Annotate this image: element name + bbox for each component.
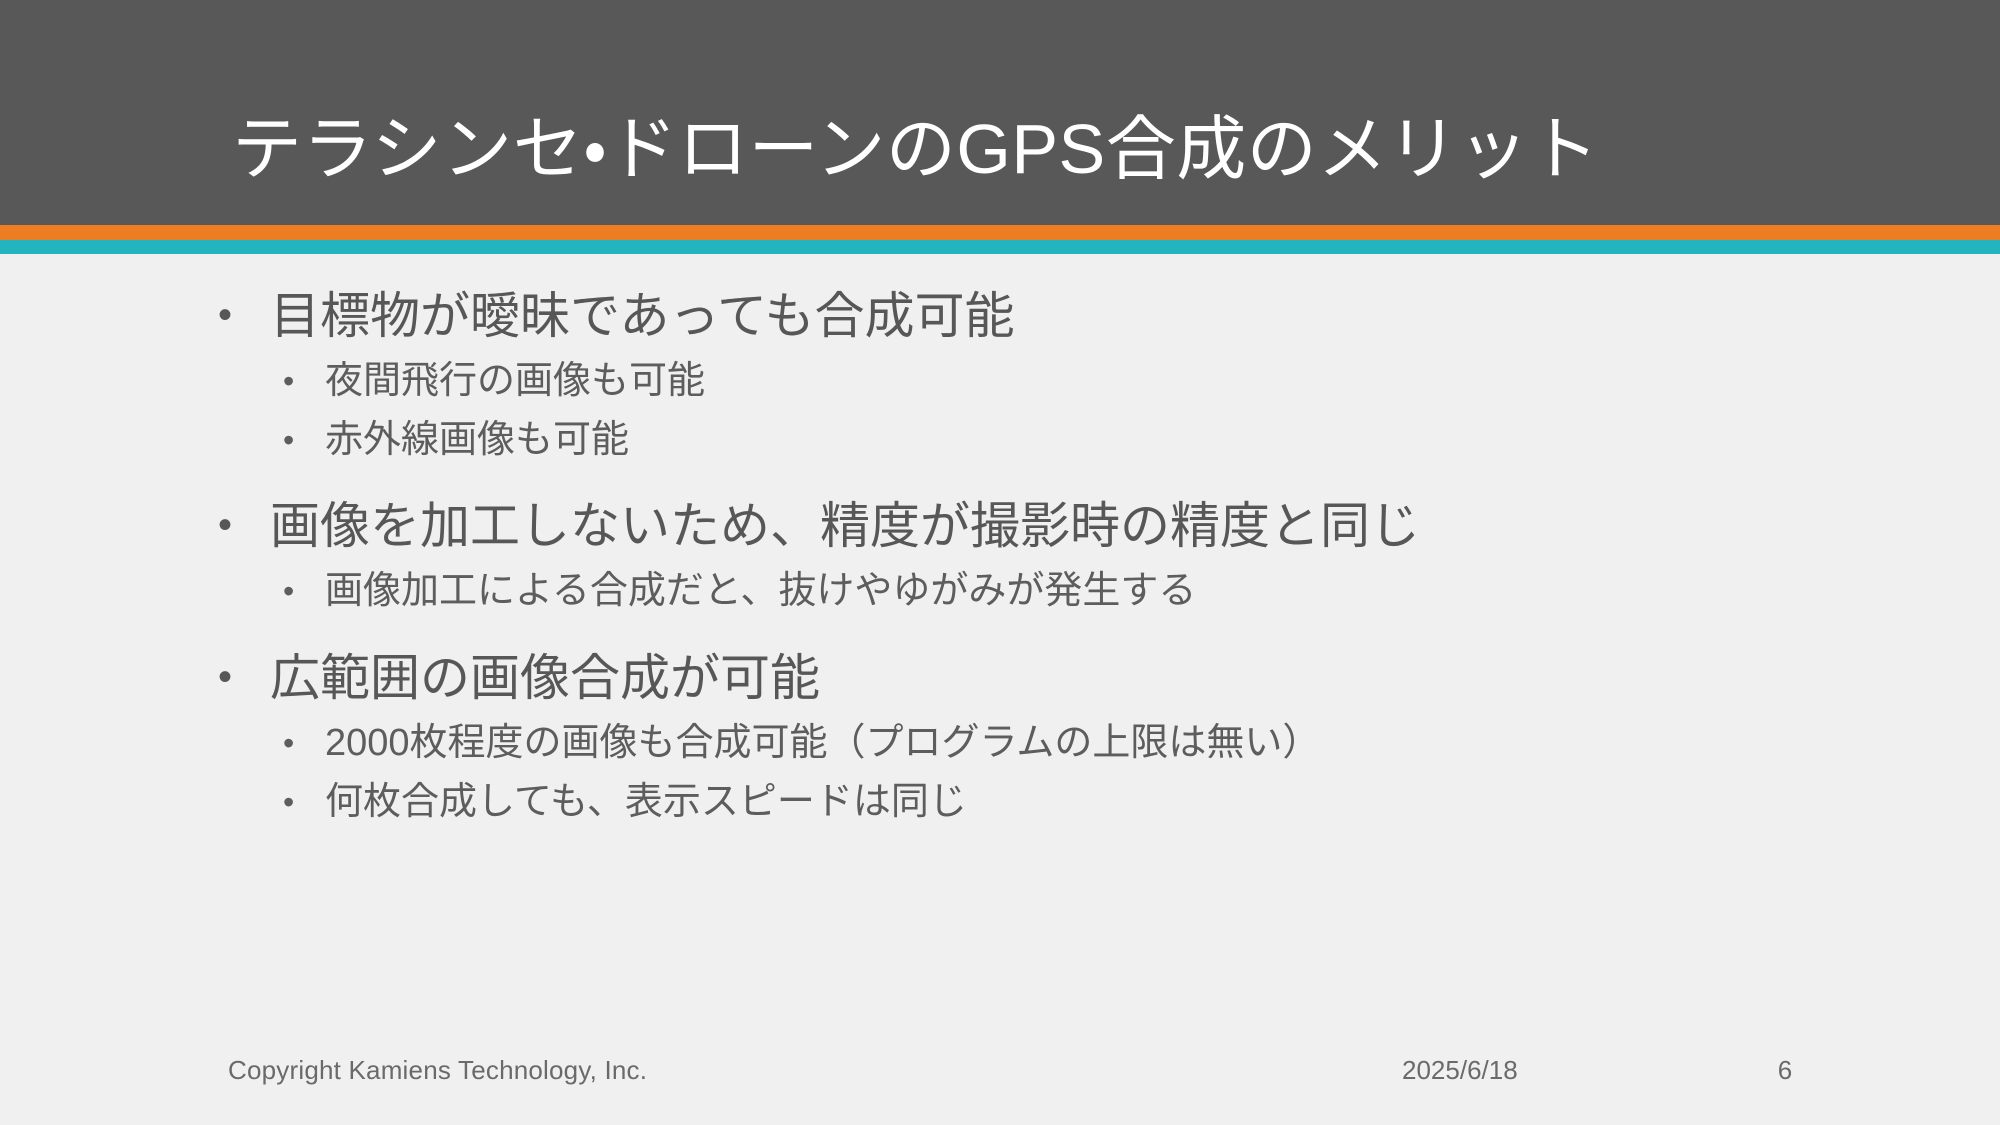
accent-bar-teal (0, 240, 2000, 254)
footer-page-number: 6 (1765, 1055, 1805, 1086)
bullet-marker-icon: • (218, 648, 270, 707)
bullet-group: • 広範囲の画像合成が可能 • 2000枚程度の画像も合成可能（プログラムの上限… (0, 648, 2000, 826)
footer-date: 2025/6/18 (1402, 1055, 1518, 1086)
bullet-level1-text: 目標物が曖昧であっても合成可能 (270, 286, 1015, 347)
bullet-marker-icon: • (283, 719, 325, 767)
bullet-group: • 目標物が曖昧であっても合成可能 • 夜間飛行の画像も可能 • 赤外線画像も可… (0, 286, 2000, 464)
slide-title: テラシンセ・ドローンのGPS合成のメリット (232, 112, 1892, 188)
bullet-marker-icon: • (283, 567, 325, 615)
bullet-level1-text: 広範囲の画像合成が可能 (270, 648, 820, 709)
footer-copyright: Copyright Kamiens Technology, Inc. (228, 1055, 647, 1086)
bullet-level1: • 画像を加工しないため、精度が撮影時の精度と同じ (218, 496, 2000, 557)
bullet-marker-icon: • (218, 286, 270, 345)
bullet-level2-text: 2000枚程度の画像も合成可能（プログラムの上限は無い） (325, 719, 1320, 768)
bullet-marker-icon: • (283, 778, 325, 826)
bullet-level2-text: 赤外線画像も可能 (325, 416, 629, 465)
bullet-level2: • 何枚合成しても、表示スピードは同じ (283, 778, 2000, 827)
bullet-level1: • 広範囲の画像合成が可能 (218, 648, 2000, 709)
bullet-marker-icon: • (283, 357, 325, 405)
bullet-level2: • 夜間飛行の画像も可能 (283, 357, 2000, 406)
sub-bullet-list: • 画像加工による合成だと、抜けやゆがみが発生する (0, 567, 2000, 616)
bullet-level2-text: 何枚合成しても、表示スピードは同じ (325, 778, 967, 827)
bullet-marker-icon: • (283, 416, 325, 464)
bullet-level1: • 目標物が曖昧であっても合成可能 (218, 286, 2000, 347)
accent-bar-orange (0, 225, 2000, 240)
bullet-level2-text: 画像加工による合成だと、抜けやゆがみが発生する (325, 567, 1196, 616)
presentation-slide: テラシンセ・ドローンのGPS合成のメリット • 目標物が曖昧であっても合成可能 … (0, 0, 2000, 1125)
bullet-level2: • 赤外線画像も可能 (283, 416, 2000, 465)
bullet-level1-text: 画像を加工しないため、精度が撮影時の精度と同じ (270, 496, 1420, 557)
bullet-level2: • 2000枚程度の画像も合成可能（プログラムの上限は無い） (283, 719, 2000, 768)
slide-footer: Copyright Kamiens Technology, Inc. 2025/… (0, 1055, 2000, 1095)
bullet-list: • 目標物が曖昧であっても合成可能 • 夜間飛行の画像も可能 • 赤外線画像も可… (0, 286, 2000, 826)
slide-body: • 目標物が曖昧であっても合成可能 • 夜間飛行の画像も可能 • 赤外線画像も可… (0, 254, 2000, 994)
bullet-group: • 画像を加工しないため、精度が撮影時の精度と同じ • 画像加工による合成だと、… (0, 496, 2000, 616)
sub-bullet-list: • 2000枚程度の画像も合成可能（プログラムの上限は無い） • 何枚合成しても… (0, 719, 2000, 826)
bullet-level2: • 画像加工による合成だと、抜けやゆがみが発生する (283, 567, 2000, 616)
sub-bullet-list: • 夜間飛行の画像も可能 • 赤外線画像も可能 (0, 357, 2000, 464)
bullet-marker-icon: • (218, 496, 270, 555)
bullet-level2-text: 夜間飛行の画像も可能 (325, 357, 705, 406)
